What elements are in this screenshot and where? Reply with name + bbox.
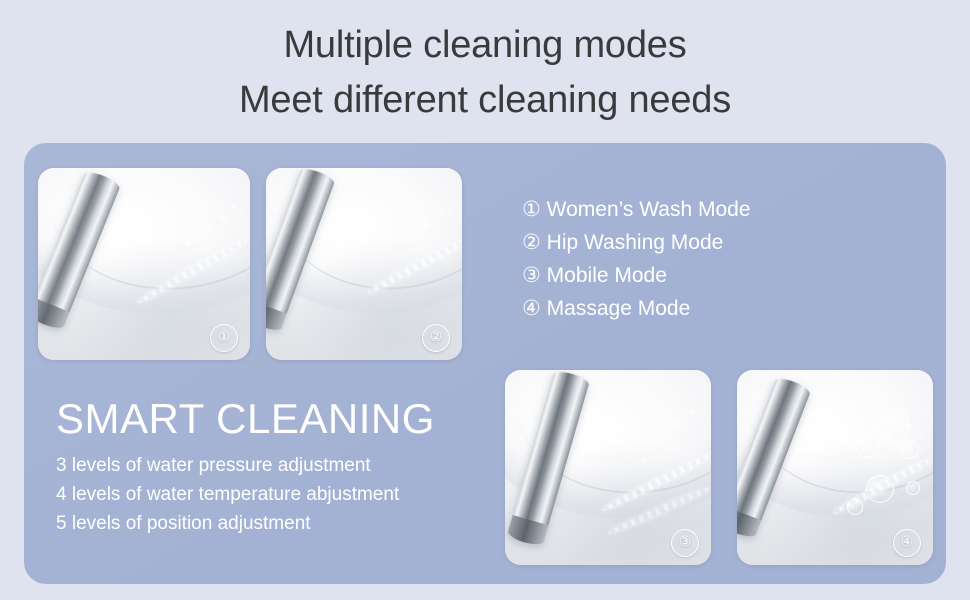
mode-label-4: Massage Mode xyxy=(547,297,691,320)
smart-feature-1: 3 levels of water pressure adjustment xyxy=(56,451,435,480)
mode-list-item-4: ④ Massage Mode xyxy=(522,292,751,325)
mode-marker-3: ③ xyxy=(522,264,541,287)
tile-badge-3: ③ xyxy=(671,529,699,557)
feature-panel: ① ② xyxy=(24,143,946,584)
headline-line-1: Multiple cleaning modes xyxy=(0,18,970,73)
smart-cleaning-block: SMART CLEANING 3 levels of water pressur… xyxy=(56,393,435,538)
tile-badge-2: ② xyxy=(422,324,450,352)
mode-list: ① Women’s Wash Mode ② Hip Washing Mode ③… xyxy=(522,193,751,325)
smart-cleaning-title: SMART CLEANING xyxy=(56,393,435,445)
tile-badge-1: ① xyxy=(210,324,238,352)
mode-marker-1: ① xyxy=(522,198,541,221)
mode-label-2: Hip Washing Mode xyxy=(547,231,724,254)
headline-line-2: Meet different cleaning needs xyxy=(0,73,970,128)
mode-list-item-1: ① Women’s Wash Mode xyxy=(522,193,751,226)
smart-feature-3: 5 levels of position adjustment xyxy=(56,509,435,538)
mode-list-item-3: ③ Mobile Mode xyxy=(522,259,751,292)
mode-photo-tile-4: ④ xyxy=(737,370,933,565)
mode-list-item-2: ② Hip Washing Mode xyxy=(522,226,751,259)
mode-label-3: Mobile Mode xyxy=(547,264,667,287)
smart-cleaning-feature-list: 3 levels of water pressure adjustment 4 … xyxy=(56,451,435,538)
mode-marker-4: ④ xyxy=(522,297,541,320)
mode-marker-2: ② xyxy=(522,231,541,254)
mode-label-1: Women’s Wash Mode xyxy=(547,198,751,221)
mode-photo-tile-1: ① xyxy=(38,168,250,360)
mode-photo-tile-2: ② xyxy=(266,168,462,360)
product-feature-banner: Multiple cleaning modes Meet different c… xyxy=(0,0,970,600)
page-title: Multiple cleaning modes Meet different c… xyxy=(0,18,970,128)
tile-badge-4: ④ xyxy=(893,529,921,557)
smart-feature-2: 4 levels of water temperature abjustment xyxy=(56,480,435,509)
mode-photo-tile-3: ③ xyxy=(505,370,711,565)
